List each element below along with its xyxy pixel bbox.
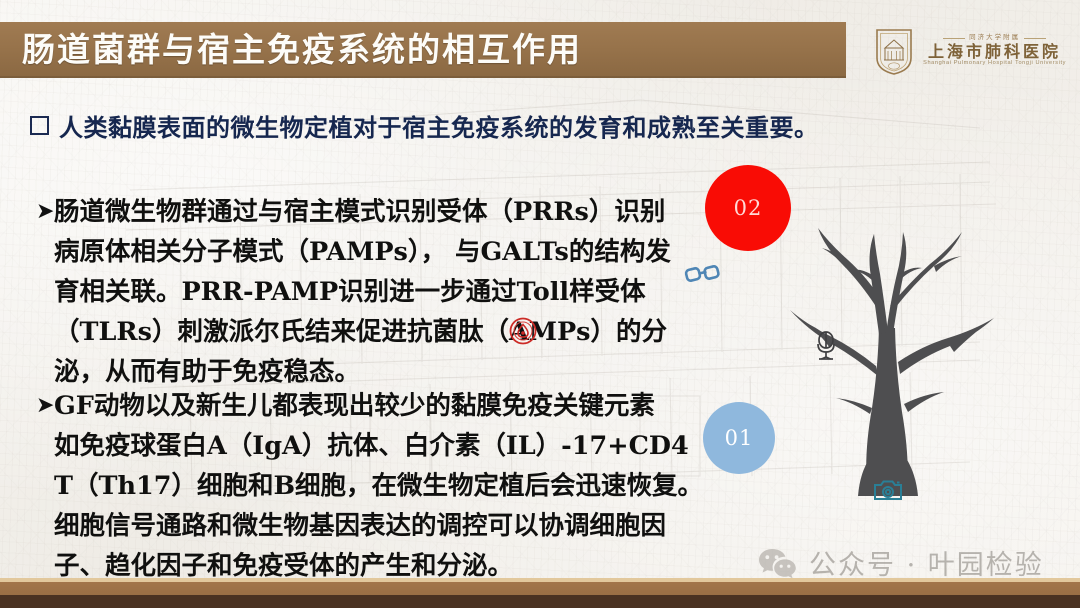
microphone-icon bbox=[812, 330, 840, 362]
triangle-arrow-bullet-icon: ➤ bbox=[36, 192, 54, 232]
footer-brown-strip bbox=[0, 582, 1080, 595]
page-title: 肠道菌群与宿主免疫系统的相互作用 bbox=[22, 24, 582, 76]
paragraph-2-line-3: T（Th17）细胞和B细胞，在微生物定植后会迅速恢复。 bbox=[54, 471, 703, 501]
slide-canvas: 肠道菌群与宿主免疫系统的相互作用 同济大学附属 上海市肺科医院 Shanghai… bbox=[0, 0, 1080, 608]
camera-icon bbox=[873, 478, 903, 502]
paragraph-1-line-4: （TLRs）刺激派尔氏结来促进抗菌肽（AMPs）的分 bbox=[54, 317, 667, 347]
watermark-label: 公众号 · 叶园检验 bbox=[809, 543, 1044, 582]
triangle-arrow-bullet-icon: ➤ bbox=[36, 386, 54, 426]
hospital-crest-icon bbox=[874, 26, 914, 76]
watermark: 公众号 · 叶园检验 bbox=[758, 543, 1044, 582]
paragraph-2-line-2: 如免疫球蛋白A（IgA）抗体、白介素（IL）-17+CD4 bbox=[54, 431, 689, 461]
body-paragraph-2: ➤ GF动物以及新生儿都表现出较少的黏膜免疫关键元素 如免疫球蛋白A（IgA）抗… bbox=[36, 386, 756, 586]
hospital-logo: 同济大学附属 上海市肺科医院 Shanghai Pulmonary Hospit… bbox=[874, 22, 1066, 80]
logo-rule-right bbox=[1024, 38, 1046, 39]
logo-title: 上海市肺科医院 bbox=[928, 44, 1061, 60]
badge-01-label: 01 bbox=[725, 426, 754, 450]
paragraph-2-line-4: 细胞信号通路和微生物基因表达的调控可以协调细胞因 bbox=[54, 511, 666, 541]
lead-statement-text: 人类黏膜表面的微生物定植对于宿主免疫系统的发育和成熟至关重要。 bbox=[59, 108, 819, 143]
badge-02-label: 02 bbox=[734, 196, 763, 220]
logo-rule-left bbox=[943, 38, 965, 39]
bare-tree-icon bbox=[762, 158, 1012, 496]
wechat-icon bbox=[758, 547, 798, 579]
badge-02: 02 bbox=[705, 165, 791, 251]
logo-supertitle-row: 同济大学附属 bbox=[943, 35, 1046, 42]
logo-subtitle: Shanghai Pulmonary Hospital Tongji Unive… bbox=[923, 61, 1066, 67]
paragraph-1-line-5: 泌，从而有助于免疫稳态。 bbox=[54, 357, 360, 387]
paragraph-2-line-5: 子、趋化因子和免疫受体的产生和分泌。 bbox=[54, 551, 513, 581]
paragraph-1-line-3: 育相关联。PRR-PAMP识别进一步通过Toll样受体 bbox=[54, 277, 646, 307]
logo-supertitle: 同济大学附属 bbox=[969, 35, 1020, 42]
body-paragraph-1-text: 肠道微生物群通过与宿主模式识别受体（PRRs）识别 病原体相关分子模式（PAMP… bbox=[54, 192, 671, 392]
hollow-square-bullet-icon bbox=[30, 116, 49, 135]
footer-dark-strip bbox=[0, 595, 1080, 608]
paragraph-1-line-2: 病原体相关分子模式（PAMPs）， 与GALTs的结构发 bbox=[54, 237, 671, 267]
hospital-logo-text: 同济大学附属 上海市肺科医院 Shanghai Pulmonary Hospit… bbox=[923, 35, 1066, 66]
lead-statement: 人类黏膜表面的微生物定植对于宿主免疫系统的发育和成熟至关重要。 bbox=[30, 108, 819, 143]
body-paragraph-1: ➤ 肠道微生物群通过与宿主模式识别受体（PRRs）识别 病原体相关分子模式（PA… bbox=[36, 192, 726, 392]
paragraph-2-line-1: GF动物以及新生儿都表现出较少的黏膜免疫关键元素 bbox=[54, 391, 655, 421]
paragraph-1-line-1: 肠道微生物群通过与宿主模式识别受体（PRRs）识别 bbox=[54, 197, 665, 227]
badge-01: 01 bbox=[703, 402, 775, 474]
body-paragraph-2-text: GF动物以及新生儿都表现出较少的黏膜免疫关键元素 如免疫球蛋白A（IgA）抗体、… bbox=[54, 386, 703, 586]
